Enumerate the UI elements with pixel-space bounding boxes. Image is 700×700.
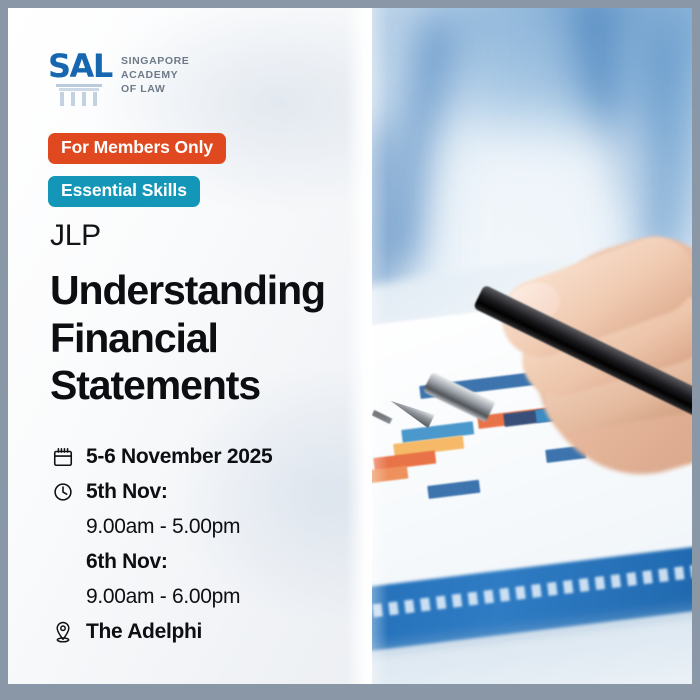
column-shaft-1 [60, 92, 64, 106]
badge-members-only: For Members Only [48, 133, 226, 164]
classical-column-icon [56, 84, 102, 106]
badge-essential-skills: Essential Skills [48, 176, 200, 207]
event-day1-row: 5th Nov: [52, 475, 362, 509]
clock-icon [52, 481, 86, 503]
event-day2-row: 6th Nov: [52, 545, 362, 579]
column-cap-top [56, 84, 102, 87]
sal-org-line-1: SINGAPORE [121, 55, 189, 69]
event-photo [348, 8, 692, 684]
event-day2-time-row: 9.00am - 6.00pm [52, 580, 362, 614]
event-venue-row: The Adelphi [52, 615, 362, 649]
title-line-3: Statements [50, 362, 370, 410]
sal-org-name: SINGAPORE ACADEMY OF LAW [121, 50, 189, 97]
poster-root: SAL SINGAPORE ACADEMY OF LAW [0, 0, 700, 700]
event-date-row: 5-6 November 2025 [52, 440, 362, 474]
event-details: 5-6 November 2025 5th Nov: 9.00am - 5.00… [52, 440, 362, 649]
calendar-icon [52, 446, 86, 468]
sal-org-line-2: ACADEMY [121, 69, 189, 83]
event-day1-time-row: 9.00am - 5.00pm [52, 510, 362, 544]
title-line-1: Understanding [50, 267, 370, 315]
sal-logo: SAL SINGAPORE ACADEMY OF LAW [48, 50, 189, 106]
programme-code: JLP [50, 219, 101, 253]
event-day2-label: 6th Nov: [86, 550, 168, 574]
title-line-2: Financial [50, 315, 370, 363]
column-shaft-2 [71, 92, 75, 106]
event-day1-label: 5th Nov: [86, 480, 168, 504]
column-shaft-3 [82, 92, 86, 106]
column-shaft-4 [93, 92, 97, 106]
poster-frame: SAL SINGAPORE ACADEMY OF LAW [8, 8, 692, 684]
poster-content: SAL SINGAPORE ACADEMY OF LAW [8, 8, 372, 684]
event-day1-time: 9.00am - 5.00pm [86, 515, 240, 539]
sal-logo-mark: SAL [48, 50, 110, 106]
event-day2-time: 9.00am - 6.00pm [86, 585, 240, 609]
column-cap-bottom [59, 88, 99, 91]
event-venue: The Adelphi [86, 620, 202, 644]
page-title: Understanding Financial Statements [50, 267, 370, 410]
sal-wordmark: SAL [48, 50, 110, 82]
event-date: 5-6 November 2025 [86, 445, 272, 469]
location-pin-icon [52, 620, 86, 644]
sal-org-line-3: OF LAW [121, 83, 189, 97]
